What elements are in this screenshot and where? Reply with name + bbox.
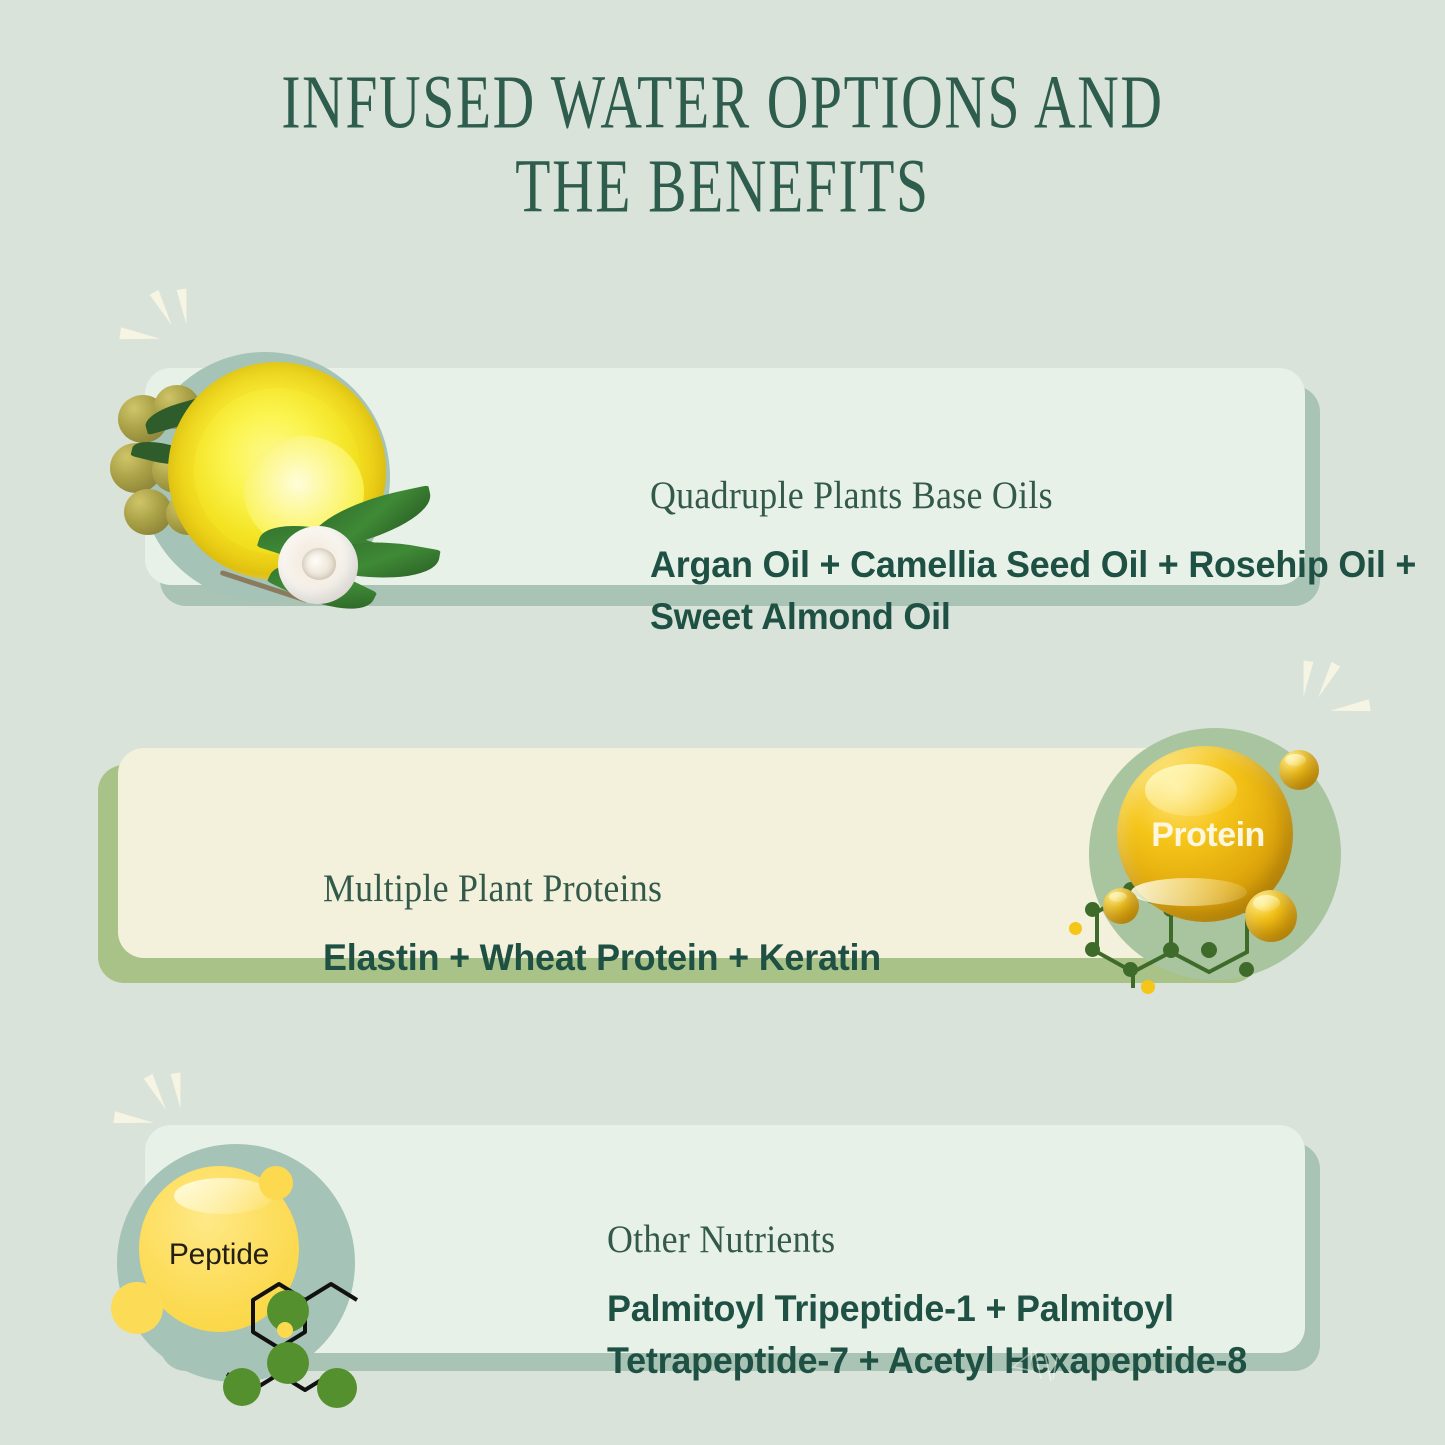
molecule-node-icon (223, 1368, 261, 1406)
watermark-icon (1005, 1345, 1085, 1391)
peptide-sphere-image: Peptide (105, 1110, 435, 1430)
droplet-gloss (1145, 764, 1237, 817)
gold-droplet-icon (1279, 750, 1319, 790)
peptide-badge-label: Peptide (139, 1238, 299, 1272)
molecule-node-icon (1239, 962, 1254, 977)
page-title-line-1: INFUSED WATER OPTIONS AND (145, 57, 1301, 146)
droplet-gloss (1253, 895, 1280, 911)
molecule-node-icon (1201, 942, 1217, 958)
sparkle-ray-icon (150, 290, 177, 328)
droplet-gloss (1109, 892, 1128, 903)
droplet-gloss (1285, 754, 1306, 766)
molecule-node-icon (1141, 980, 1155, 994)
camellia-flower-icon (278, 526, 358, 604)
card-text-block: Multiple Plant Proteins Elastin + Wheat … (323, 866, 1153, 984)
infographic-page: INFUSED WATER OPTIONS AND THE BENEFITS Q… (0, 0, 1445, 1445)
card-text-block: Quadruple Plants Base Oils Argan Oil + C… (650, 473, 1445, 643)
droplet-underlight (1131, 878, 1247, 906)
protein-badge-label: Protein (1133, 816, 1283, 855)
molecule-node-icon (1069, 922, 1082, 935)
card-detail: Argan Oil + Camellia Seed Oil + Rosehip … (650, 539, 1436, 643)
molecule-node-icon (1085, 942, 1100, 957)
molecule-node-icon (1163, 942, 1179, 958)
page-title: INFUSED WATER OPTIONS AND THE BENEFITS (0, 60, 1445, 228)
molecule-node-icon (1123, 962, 1138, 977)
card-heading: Multiple Plant Proteins (323, 866, 1087, 912)
card-detail: Palmitoyl Tripeptide-1 + Palmitoyl Tetra… (607, 1283, 1335, 1387)
olive-icon (124, 489, 172, 535)
flower-center (302, 548, 336, 580)
peptide-bubble-icon (259, 1166, 293, 1200)
protein-droplet-image: Protein (1065, 690, 1395, 1010)
card-detail: Elastin + Wheat Protein + Keratin (323, 932, 1128, 984)
gold-droplet-icon (1245, 890, 1297, 942)
card-heading: Other Nutrients (607, 1217, 1297, 1263)
peptide-bubble-icon (111, 1282, 163, 1334)
molecule-node-icon (277, 1322, 293, 1338)
molecule-node-icon (267, 1342, 309, 1384)
gold-droplet-icon (1103, 888, 1139, 924)
molecule-node-icon (1085, 902, 1100, 917)
sparkle-ray-icon (177, 288, 192, 325)
olive-oil-bowl-image (110, 330, 450, 640)
card-text-block: Other Nutrients Palmitoyl Tripeptide-1 +… (607, 1217, 1357, 1387)
page-title-line-2: THE BENEFITS (145, 141, 1301, 230)
molecule-node-icon (317, 1368, 357, 1408)
card-heading: Quadruple Plants Base Oils (650, 473, 1395, 519)
